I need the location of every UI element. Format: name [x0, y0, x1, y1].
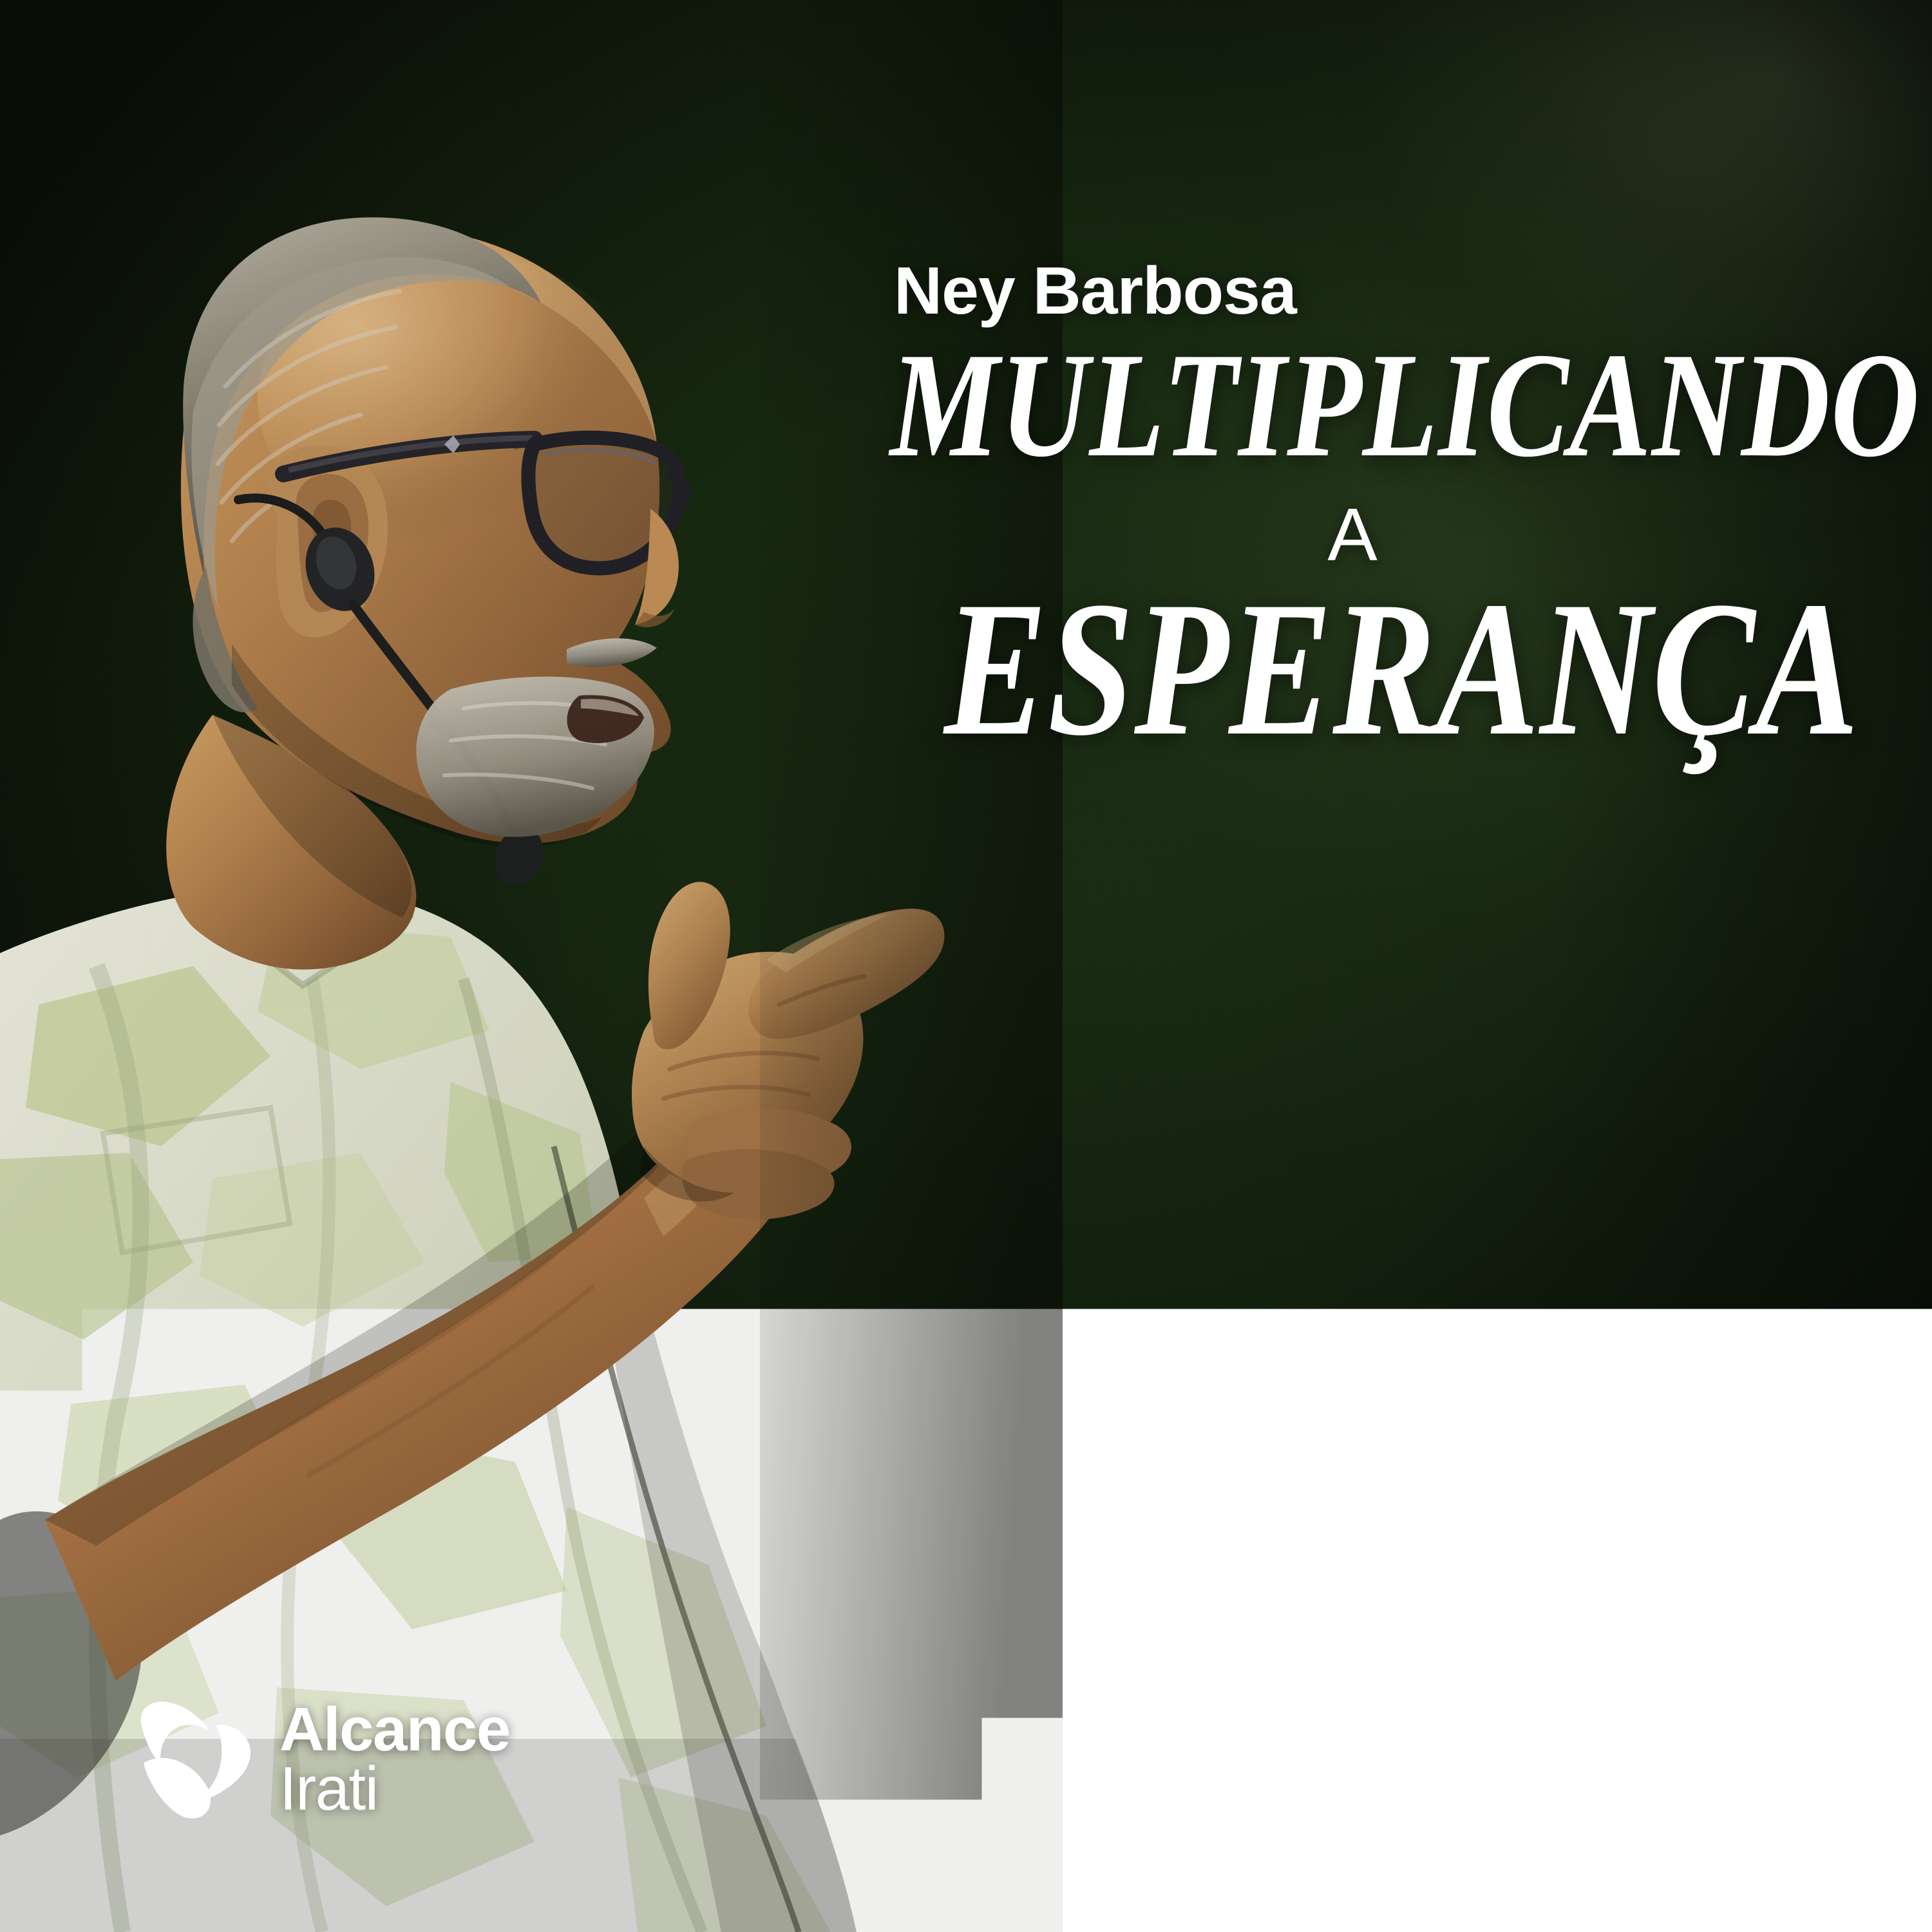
poster-canvas: Ney Barbosa MULTIPLICANDO A ESPERANÇA Al… [0, 0, 1932, 1932]
heart-petals-icon [137, 1700, 254, 1819]
comunhao-wordmark: C MUNHÃO [1459, 1738, 1856, 1813]
alcance-irati-wordmark: Alcance Irati [279, 1700, 510, 1819]
speaker-name: Ney Barbosa [894, 258, 1880, 325]
alcance-irati-logo: Alcance Irati [137, 1700, 510, 1819]
puzzle-piece-icon [1489, 1748, 1551, 1810]
headline-block: Ney Barbosa MULTIPLICANDO A ESPERANÇA [889, 258, 1880, 753]
title-conjunction: A [889, 497, 1816, 572]
comunhao-suffix: MUNHÃO [1531, 1738, 1856, 1813]
alcance-label: Alcance [279, 1695, 510, 1764]
irati-label: Irati [279, 1759, 510, 1819]
title-line-multiplicando: MULTIPLICANDO [890, 336, 1702, 474]
title-line-esperanca: ESPERANÇA [944, 583, 1693, 753]
comunhao-logo: C MUNHÃO [1459, 1734, 1856, 1817]
